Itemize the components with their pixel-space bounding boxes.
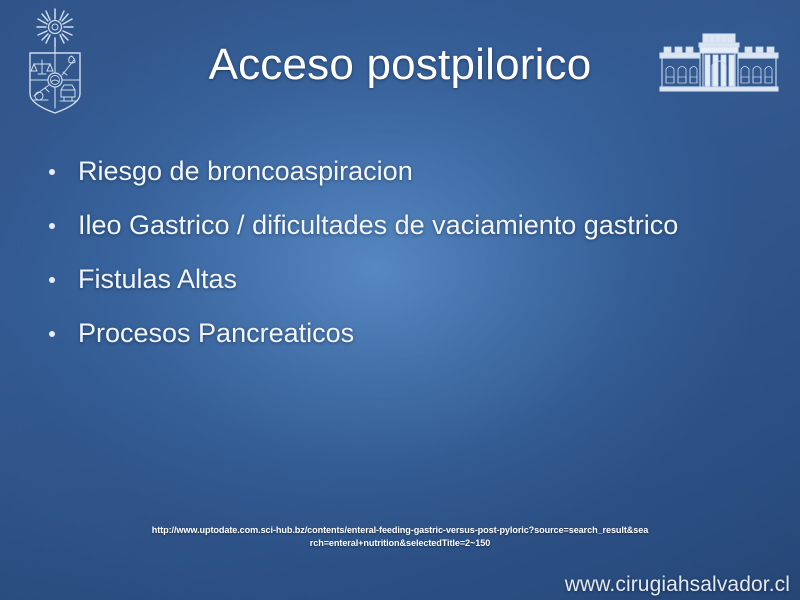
presentation-slide: Acceso postpilorico Riesgo de broncoaspi… (0, 0, 800, 600)
list-item: Fistulas Altas (44, 260, 774, 298)
list-item: Ileo Gastrico / dificultades de vaciamie… (44, 206, 774, 244)
bullet-list: Riesgo de broncoaspiracion Ileo Gastrico… (44, 152, 774, 368)
footer-website-label: www.cirugiahsalvador.cl (565, 572, 790, 598)
list-item: Riesgo de broncoaspiracion (44, 152, 774, 190)
bullet-dot-icon (49, 331, 55, 337)
list-item: Procesos Pancreaticos (44, 314, 774, 352)
bullet-text: Procesos Pancreaticos (78, 318, 354, 348)
bullet-dot-icon (49, 223, 55, 229)
bullet-text: Ileo Gastrico / dificultades de vaciamie… (78, 210, 678, 240)
bullet-text: Fistulas Altas (78, 264, 237, 294)
source-url-reference: http://www.uptodate.com.sci-hub.bz/conte… (150, 524, 649, 550)
bullet-text: Riesgo de broncoaspiracion (78, 156, 413, 186)
bullet-dot-icon (49, 277, 55, 283)
bullet-dot-icon (49, 169, 55, 175)
slide-title: Acceso postpilorico (0, 38, 800, 92)
